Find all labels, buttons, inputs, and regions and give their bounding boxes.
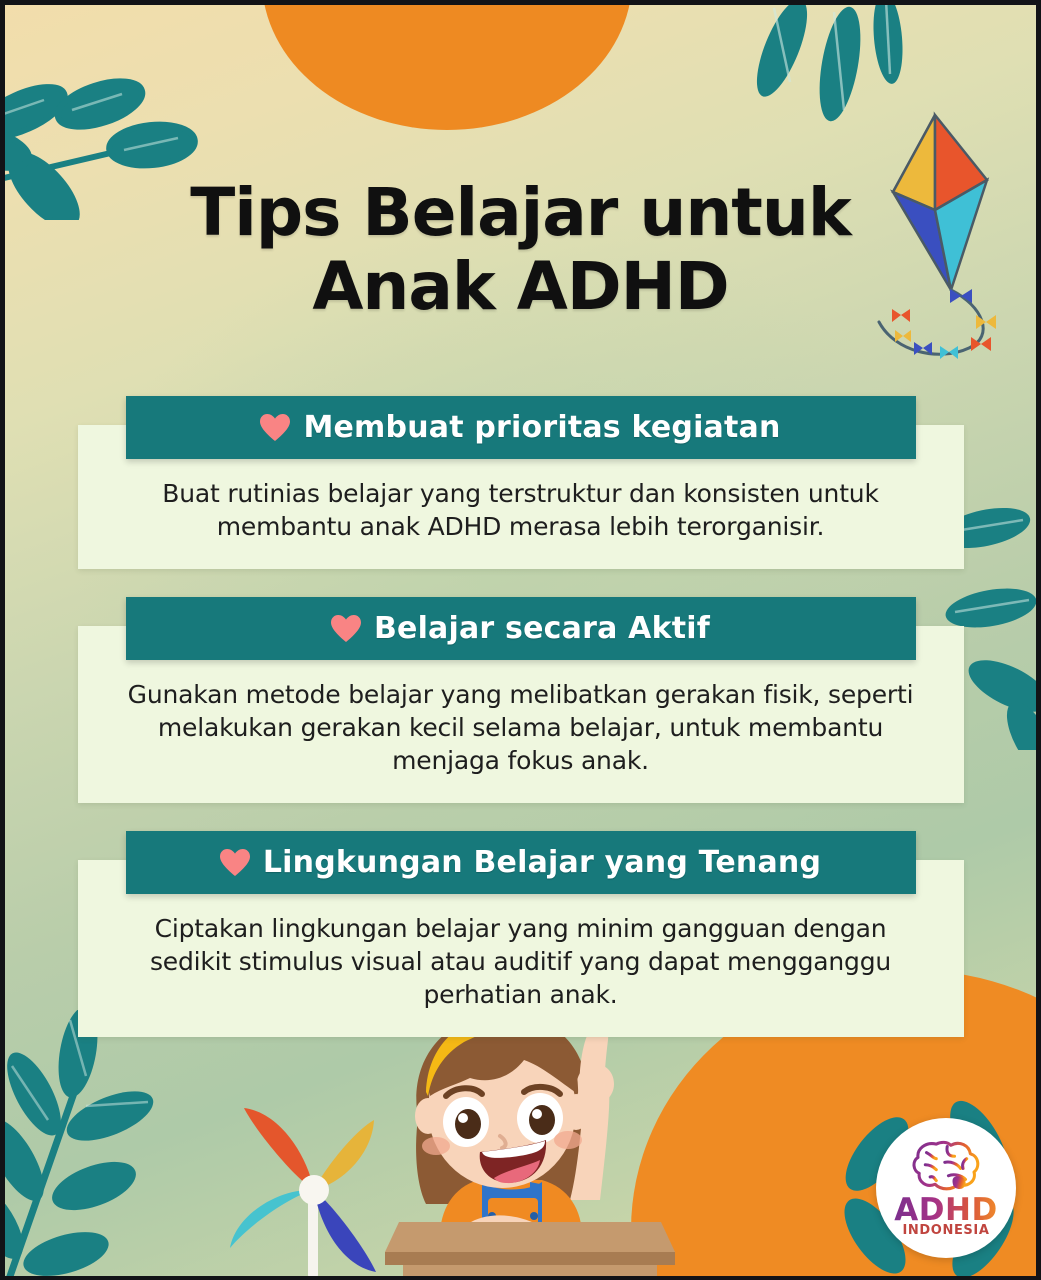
tip-card: Membuat prioritas kegiatan Buat rutinias… — [78, 396, 964, 569]
title-line-1: Tips Belajar untuk — [0, 176, 1041, 250]
screen-border-top — [0, 0, 1041, 5]
tip-card-title: Belajar secara Aktif — [374, 611, 710, 646]
orange-circle-top — [262, 0, 632, 130]
tip-card: Belajar secara Aktif Gunakan metode bela… — [78, 597, 964, 803]
tip-card: Lingkungan Belajar yang Tenang Ciptakan … — [78, 831, 964, 1037]
brain-icon — [909, 1138, 983, 1194]
tip-card-header: Lingkungan Belajar yang Tenang — [126, 831, 916, 894]
adhd-indonesia-logo: ADHD INDONESIA — [876, 1118, 1016, 1258]
heart-icon — [260, 414, 290, 442]
tip-card-text: Buat rutinias belajar yang terstruktur d… — [112, 477, 930, 543]
heart-icon — [331, 615, 361, 643]
tip-card-text: Gunakan metode belajar yang melibatkan g… — [112, 678, 930, 777]
title-line-2: Anak ADHD — [0, 250, 1041, 324]
logo-country-text: INDONESIA — [903, 1223, 990, 1238]
tip-card-text: Ciptakan lingkungan belajar yang minim g… — [112, 912, 930, 1011]
pinwheel-icon — [222, 1090, 407, 1280]
poster-title: Tips Belajar untuk Anak ADHD — [0, 176, 1041, 324]
tip-card-title: Membuat prioritas kegiatan — [303, 410, 780, 445]
screen-border-right — [1036, 0, 1041, 1280]
tip-card-header: Membuat prioritas kegiatan — [126, 396, 916, 459]
heart-icon — [220, 849, 250, 877]
screen-border-left — [0, 0, 5, 1280]
logo-brand-text: ADHD — [894, 1195, 997, 1225]
infographic-poster: Tips Belajar untuk Anak ADHD Membuat pri… — [0, 0, 1041, 1280]
tip-card-header: Belajar secara Aktif — [126, 597, 916, 660]
tip-card-title: Lingkungan Belajar yang Tenang — [263, 845, 821, 880]
tips-card-list: Membuat prioritas kegiatan Buat rutinias… — [0, 396, 1041, 1065]
screen-border-bottom — [0, 1276, 1041, 1280]
desk — [385, 1222, 675, 1280]
